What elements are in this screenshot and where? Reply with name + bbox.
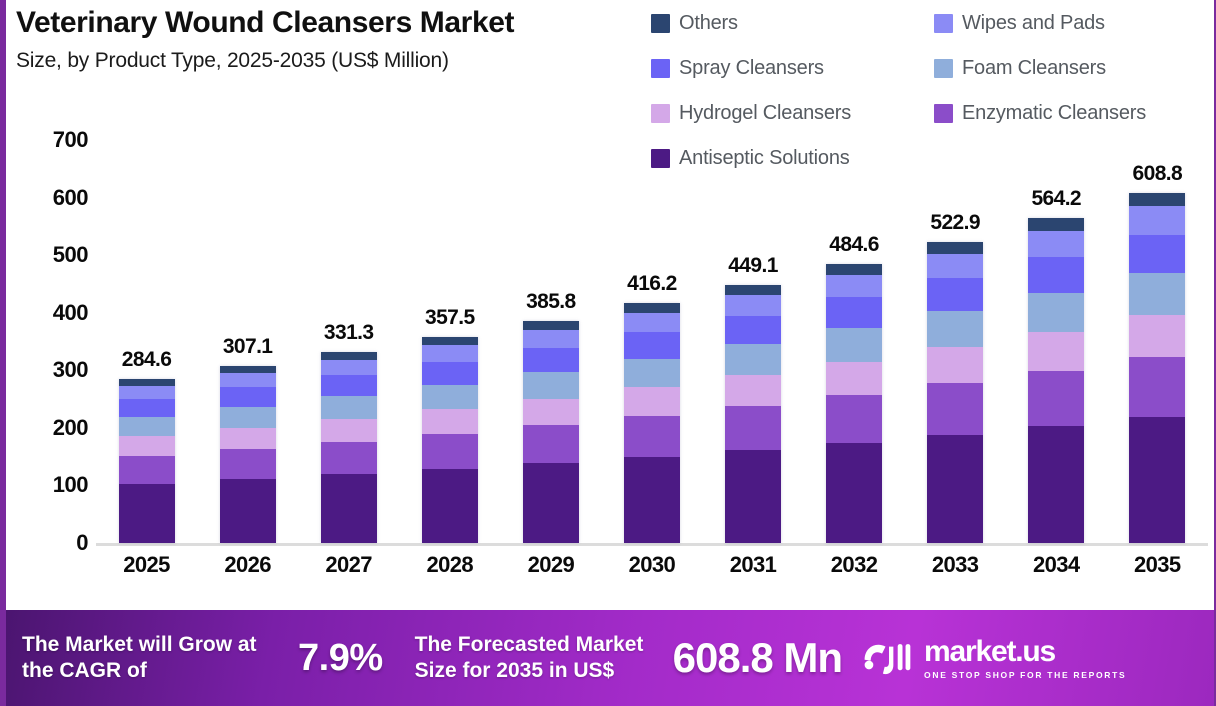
y-axis-tick-600: 600 [53,185,88,211]
bar-segment-antiseptic-solutions [422,469,478,543]
bar-segment-others [220,366,276,373]
bar-stack [1028,218,1084,543]
bar-segment-spray-cleansers [220,387,276,406]
bar-segment-spray-cleansers [1129,235,1185,274]
banner-forecast-value: 608.8 Mn [673,634,842,682]
bar-value-label: 449.1 [728,254,778,278]
bar-segment-wipes-and-pads [1028,231,1084,257]
summary-banner: The Market will Grow at the CAGR of 7.9%… [6,610,1216,706]
legend-item-wipes-and-pads[interactable]: Wipes and Pads [934,10,1216,36]
bar-segment-enzymatic-cleansers [725,406,781,450]
bar-segment-foam-cleansers [1028,293,1084,332]
bar-segment-antiseptic-solutions [725,450,781,543]
bar-segment-enzymatic-cleansers [624,416,680,457]
bar-series-container: 284.6307.1331.3357.5385.8416.2449.1484.6… [96,140,1208,543]
bar-segment-antiseptic-solutions [119,484,175,543]
legend-item-label: Hydrogel Cleansers [679,102,851,125]
bar-segment-wipes-and-pads [523,330,579,348]
bar-segment-hydrogel-cleansers [927,347,983,383]
legend-swatch-icon [651,104,670,123]
page-title: Veterinary Wound Cleansers Market [16,6,666,40]
bar-segment-foam-cleansers [624,359,680,388]
bar-segment-foam-cleansers [220,407,276,428]
bar-segment-foam-cleansers [422,385,478,410]
bar-value-label: 357.5 [425,306,475,330]
bar-segment-hydrogel-cleansers [1028,332,1084,371]
x-axis-tick-2030: 2030 [608,552,696,578]
bar-segment-foam-cleansers [119,417,175,437]
bar-segment-others [624,303,680,313]
bar-segment-hydrogel-cleansers [422,409,478,434]
bar-segment-hydrogel-cleansers [523,399,579,426]
bar-segment-enzymatic-cleansers [220,449,276,479]
bar-segment-others [523,321,579,330]
bar-value-label: 385.8 [526,290,576,314]
x-axis-tick-2025: 2025 [103,552,191,578]
bar-group-2025[interactable]: 284.6 [103,140,191,543]
bar-stack [624,303,680,543]
bar-segment-enzymatic-cleansers [1129,357,1185,417]
x-axis-tick-2032: 2032 [810,552,898,578]
bar-segment-foam-cleansers [725,344,781,375]
bar-segment-spray-cleansers [927,278,983,311]
bar-segment-wipes-and-pads [422,345,478,361]
bar-segment-others [422,337,478,345]
bar-value-label: 522.9 [930,211,980,235]
chart-canvas: Veterinary Wound Cleansers Market Size, … [0,0,1216,706]
bar-stack [220,366,276,543]
chart-subtitle: Size, by Product Type, 2025-2035 (US$ Mi… [16,49,666,73]
bar-segment-antiseptic-solutions [321,474,377,543]
y-axis-tick-300: 300 [53,357,88,383]
bar-segment-enzymatic-cleansers [422,434,478,469]
market-us-logo: market.us ONE STOP SHOP FOR THE REPORTS [862,637,1126,680]
bar-segment-wipes-and-pads [826,275,882,297]
bar-segment-hydrogel-cleansers [220,428,276,449]
bar-group-2033[interactable]: 522.9 [911,140,999,543]
bar-stack [119,379,175,543]
market-us-logo-words: market.us ONE STOP SHOP FOR THE REPORTS [924,637,1126,680]
bar-value-label: 484.6 [829,233,879,257]
legend-item-hydrogel-cleansers[interactable]: Hydrogel Cleansers [651,100,934,126]
bar-segment-enzymatic-cleansers [321,442,377,474]
bar-segment-wipes-and-pads [927,254,983,278]
banner-cagr-value: 7.9% [298,637,383,680]
legend-item-label: Foam Cleansers [962,57,1106,80]
bar-group-2032[interactable]: 484.6 [810,140,898,543]
bar-value-label: 331.3 [324,321,374,345]
bar-segment-others [725,285,781,295]
banner-forecast-label: The Forecasted Market Size for 2035 in U… [415,632,655,685]
bar-segment-wipes-and-pads [1129,206,1185,234]
bar-group-2029[interactable]: 385.8 [507,140,595,543]
bar-value-label: 307.1 [223,335,273,359]
bar-segment-hydrogel-cleansers [119,436,175,456]
legend-item-label: Spray Cleansers [679,57,824,80]
bar-segment-hydrogel-cleansers [725,375,781,406]
x-axis-tick-2035: 2035 [1113,552,1201,578]
bar-segment-spray-cleansers [422,362,478,385]
logo-tagline: ONE STOP SHOP FOR THE REPORTS [924,670,1126,680]
bar-value-label: 564.2 [1031,187,1081,211]
bar-value-label: 608.8 [1133,162,1183,186]
bar-stack [422,337,478,543]
bar-stack [321,352,377,543]
bar-segment-antiseptic-solutions [523,463,579,543]
bar-segment-others [1028,218,1084,231]
x-axis-line [96,543,1208,546]
bar-segment-foam-cleansers [321,396,377,419]
x-axis-tick-2028: 2028 [406,552,494,578]
bar-value-label: 416.2 [627,272,677,296]
bar-stack [826,264,882,543]
x-axis-tick-2034: 2034 [1012,552,1100,578]
legend-item-foam-cleansers[interactable]: Foam Cleansers [934,55,1216,81]
x-axis-tick-2031: 2031 [709,552,797,578]
legend-item-label: Wipes and Pads [962,12,1105,35]
bar-segment-hydrogel-cleansers [826,362,882,396]
bar-segment-spray-cleansers [725,316,781,344]
bar-segment-wipes-and-pads [725,295,781,316]
bar-segment-antiseptic-solutions [1028,426,1084,543]
x-axis-tick-2026: 2026 [204,552,292,578]
bar-segment-enzymatic-cleansers [523,425,579,463]
bar-segment-hydrogel-cleansers [1129,315,1185,357]
bar-segment-antiseptic-solutions [927,435,983,543]
bar-group-2031[interactable]: 449.1 [709,140,797,543]
plot-area: 0100200300400500600700 284.6307.1331.335… [6,140,1216,595]
legend-item-spray-cleansers[interactable]: Spray Cleansers [651,55,934,81]
bar-segment-wipes-and-pads [220,373,276,387]
bar-segment-others [321,352,377,360]
bar-segment-enzymatic-cleansers [826,395,882,442]
bar-group-2035[interactable]: 608.8 [1113,140,1201,543]
bar-segment-wipes-and-pads [624,313,680,332]
market-us-logo-mark [862,638,916,678]
y-axis-tick-100: 100 [53,472,88,498]
logo-name: market.us [924,637,1126,667]
bar-segment-hydrogel-cleansers [624,387,680,416]
bar-segment-wipes-and-pads [119,386,175,399]
bar-stack [725,285,781,543]
bar-group-2027[interactable]: 331.3 [305,140,393,543]
banner-cagr-label: The Market will Grow at the CAGR of [22,632,292,685]
bar-segment-foam-cleansers [1129,273,1185,315]
bar-stack [523,321,579,543]
bar-group-2030[interactable]: 416.2 [608,140,696,543]
legend-swatch-icon [934,14,953,33]
bar-segment-foam-cleansers [927,311,983,347]
bar-segment-foam-cleansers [523,372,579,399]
bar-segment-spray-cleansers [1028,257,1084,293]
y-axis-tick-400: 400 [53,300,88,326]
bar-segment-others [927,242,983,254]
bar-segment-wipes-and-pads [321,360,377,375]
bar-segment-enzymatic-cleansers [927,383,983,434]
x-axis-tick-2029: 2029 [507,552,595,578]
legend-item-enzymatic-cleansers[interactable]: Enzymatic Cleansers [934,100,1216,126]
bar-stack [1129,193,1185,543]
y-axis-tick-0: 0 [76,530,88,556]
legend-item-label: Enzymatic Cleansers [962,102,1146,125]
bar-segment-hydrogel-cleansers [321,419,377,442]
y-axis-tick-500: 500 [53,242,88,268]
bar-group-2034[interactable]: 564.2 [1012,140,1100,543]
x-axis-tick-2027: 2027 [305,552,393,578]
bar-group-2026[interactable]: 307.1 [204,140,292,543]
bar-segment-spray-cleansers [119,399,175,417]
bar-value-label: 284.6 [122,348,172,372]
bar-segment-antiseptic-solutions [624,457,680,543]
legend-item-label: Others [679,12,738,35]
y-axis: 0100200300400500600700 [6,140,96,543]
bar-segment-spray-cleansers [624,332,680,358]
bar-segment-foam-cleansers [826,328,882,362]
bar-stack [927,242,983,543]
y-axis-tick-700: 700 [53,127,88,153]
bar-segment-others [1129,193,1185,207]
bar-segment-enzymatic-cleansers [1028,371,1084,426]
bar-segment-antiseptic-solutions [826,443,882,543]
bar-segment-enzymatic-cleansers [119,456,175,484]
bar-segment-antiseptic-solutions [1129,417,1185,543]
legend-swatch-icon [934,59,953,78]
y-axis-tick-200: 200 [53,415,88,441]
legend-swatch-icon [934,104,953,123]
bar-group-2028[interactable]: 357.5 [406,140,494,543]
x-axis-tick-2033: 2033 [911,552,999,578]
bar-segment-antiseptic-solutions [220,479,276,543]
bar-segment-spray-cleansers [523,348,579,372]
bar-segment-others [826,264,882,275]
bar-segment-spray-cleansers [826,297,882,328]
legend-item-others[interactable]: Others [651,10,934,36]
bar-segment-spray-cleansers [321,375,377,396]
legend-swatch-icon [651,59,670,78]
chart-header: Veterinary Wound Cleansers Market Size, … [16,6,666,73]
x-axis: 2025202620272028202920302031203220332034… [96,552,1208,578]
legend-swatch-icon [651,14,670,33]
